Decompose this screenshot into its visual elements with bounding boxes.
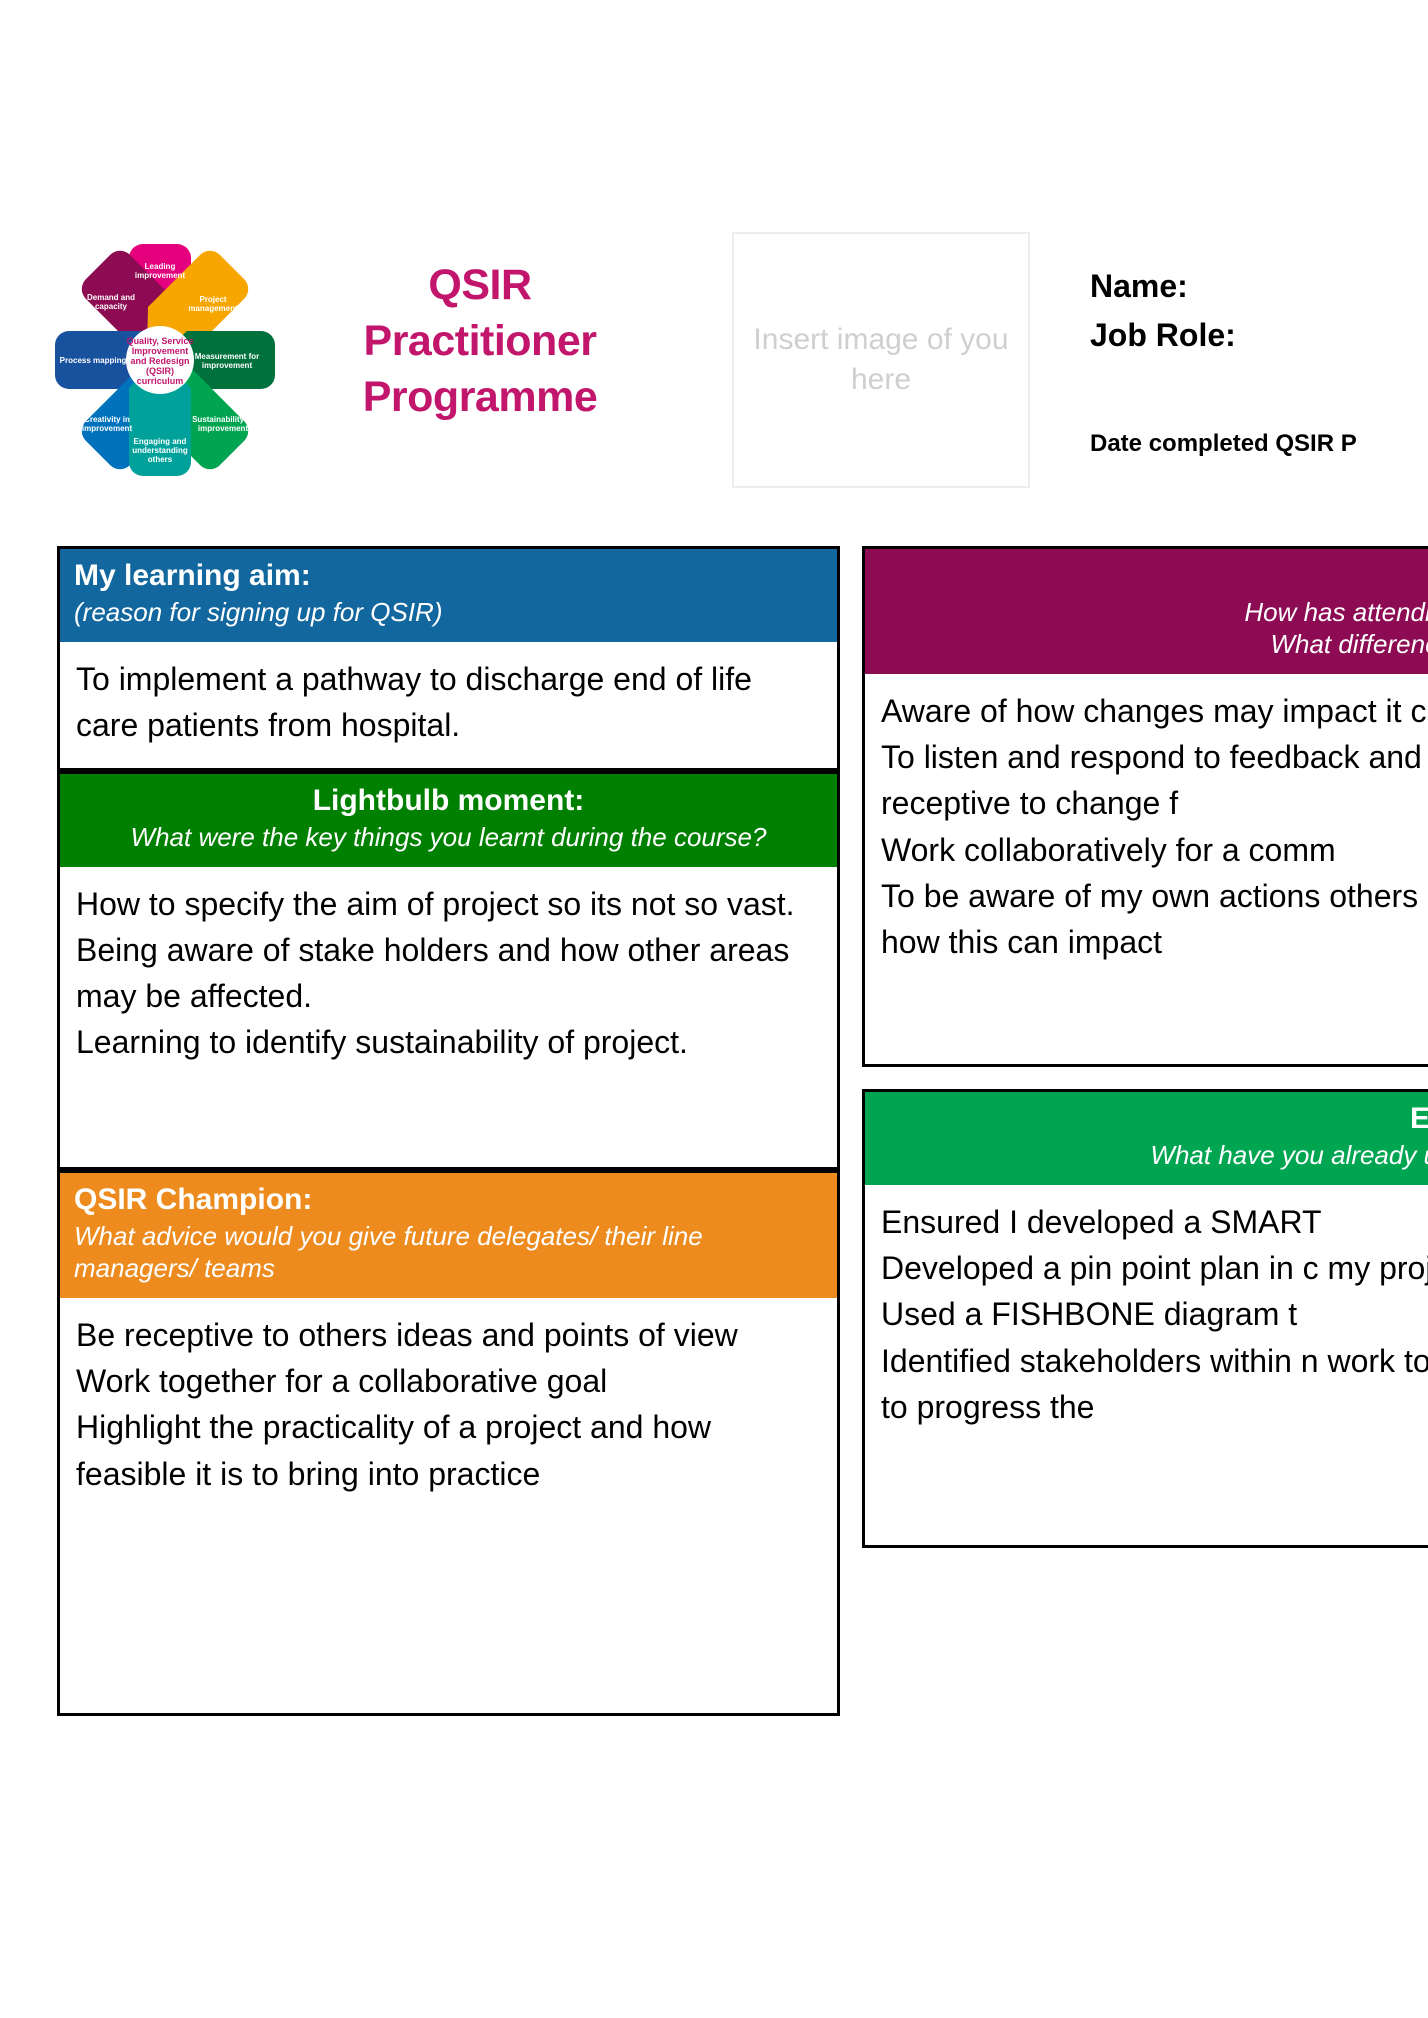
qsir-champion-title: QSIR Champion: xyxy=(74,1183,823,1218)
job-role-text: Job Role xyxy=(1090,317,1225,353)
programme-title-line-1: QSIR xyxy=(330,258,630,314)
impact-body[interactable]: Aware of how changes may impact it can b… xyxy=(865,674,1428,1064)
photo-placeholder-text: Insert image of you here xyxy=(734,320,1028,400)
panel-lightbulb-moment: Lightbulb moment: What were the key thin… xyxy=(57,771,840,1170)
document-header: Leading improvement Demand and capacity … xyxy=(0,0,1428,525)
learning-aim-title: My learning aim: xyxy=(74,559,823,594)
panel-learning-aim: My learning aim: (reason for signing up … xyxy=(57,546,840,771)
svg-text:capacity: capacity xyxy=(95,302,128,311)
left-column: My learning aim: (reason for signing up … xyxy=(57,546,840,1716)
panel-qsir-champion: QSIR Champion: What advice would you giv… xyxy=(57,1170,840,1716)
svg-text:Project: Project xyxy=(199,295,226,304)
early-application-title: Early app xyxy=(879,1102,1428,1137)
reflection-sheet: My learning aim: (reason for signing up … xyxy=(0,525,1428,2018)
svg-text:and Redesign: and Redesign xyxy=(130,356,189,366)
svg-text:improvement: improvement xyxy=(202,361,253,370)
programme-title-line-3: Programme xyxy=(330,370,630,426)
name-label: Name: xyxy=(1090,262,1428,311)
svg-text:Engaging and: Engaging and xyxy=(134,437,187,446)
right-column: Impact How has attending helped What dif… xyxy=(862,546,1428,1548)
lightbulb-moment-title: Lightbulb moment: xyxy=(74,784,823,819)
svg-text:Leading: Leading xyxy=(145,262,176,271)
learning-aim-subtitle: (reason for signing up for QSIR) xyxy=(74,596,823,628)
svg-text:Improvement: Improvement xyxy=(132,346,189,356)
impact-header: Impact How has attending helped What dif… xyxy=(865,549,1428,674)
impact-subtitle: How has attending helped What difference… xyxy=(879,596,1428,660)
svg-text:others: others xyxy=(148,455,173,464)
svg-text:Quality, Service: Quality, Service xyxy=(127,336,194,346)
learning-aim-header: My learning aim: (reason for signing up … xyxy=(60,549,837,642)
svg-text:Measurement for: Measurement for xyxy=(195,352,259,361)
svg-text:Process mapping: Process mapping xyxy=(60,356,127,365)
lightbulb-moment-body[interactable]: How to specify the aim of project so its… xyxy=(60,867,837,1167)
svg-text:(QSIR): (QSIR) xyxy=(146,366,174,376)
delegate-identity-block: Name: Job Role: xyxy=(1090,262,1428,359)
panel-early-application: Early app What have you already used? (p… xyxy=(862,1089,1428,1548)
qsir-champion-body[interactable]: Be receptive to others ideas and points … xyxy=(60,1298,837,1713)
svg-text:improvement: improvement xyxy=(135,271,186,280)
svg-text:improvement: improvement xyxy=(198,424,249,433)
svg-text:Sustainability of: Sustainability of xyxy=(192,415,254,424)
qsir-champion-header: QSIR Champion: What advice would you giv… xyxy=(60,1173,837,1298)
programme-title-line-2: Practitioner xyxy=(330,314,630,370)
lightbulb-moment-subtitle: What were the key things you learnt duri… xyxy=(74,821,823,853)
programme-title: QSIR Practitioner Programme xyxy=(330,258,630,426)
early-application-header: Early app What have you already used? (p… xyxy=(865,1092,1428,1185)
photo-placeholder-box[interactable]: Insert image of you here xyxy=(732,232,1030,488)
early-application-body[interactable]: Ensured I developed a SMART Developed a … xyxy=(865,1185,1428,1545)
svg-text:Demand and: Demand and xyxy=(87,293,135,302)
early-application-subtitle: What have you already used? (ple xyxy=(879,1139,1428,1171)
panel-impact: Impact How has attending helped What dif… xyxy=(862,546,1428,1067)
qsir-flower-icon: Leading improvement Demand and capacity … xyxy=(45,232,285,490)
svg-text:management: management xyxy=(188,304,238,313)
qsir-champion-subtitle: What advice would you give future delega… xyxy=(74,1220,823,1284)
qsir-curriculum-logo: Leading improvement Demand and capacity … xyxy=(45,232,285,490)
job-role-label: Job Role: xyxy=(1090,311,1428,360)
svg-text:understanding: understanding xyxy=(132,446,188,455)
job-role-colon: : xyxy=(1225,317,1236,353)
impact-title: Impact xyxy=(879,559,1428,594)
svg-text:improvement: improvement xyxy=(82,424,133,433)
svg-text:curriculum: curriculum xyxy=(137,376,184,386)
lightbulb-moment-header: Lightbulb moment: What were the key thin… xyxy=(60,774,837,867)
date-completed-label: Date completed QSIR P xyxy=(1090,430,1428,458)
svg-text:Creativity in: Creativity in xyxy=(84,415,130,424)
learning-aim-body[interactable]: To implement a pathway to discharge end … xyxy=(60,642,837,768)
right-column-gap xyxy=(862,1067,1428,1089)
